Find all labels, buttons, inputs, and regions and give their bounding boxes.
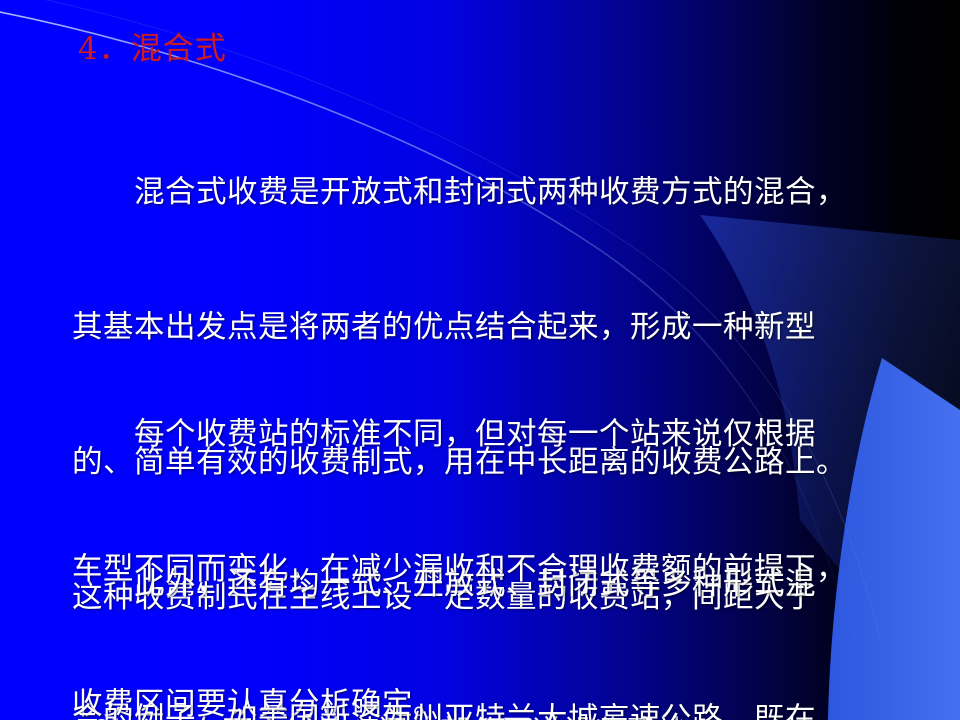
paragraph-2-line-1: 每个收费站的标准不同，但对每一个站来说仅根据 [72,412,922,457]
paragraph-3: 此外，还有均一式、开放式、封闭式等多种形式混 合的例子。如美国新泽西州亚特兰大城… [72,472,922,720]
paragraph-1-line-1: 混合式收费是开放式和封闭式两种收费方式的混合， [72,170,922,215]
paragraph-3-line-2: 合的例子。如美国新泽西州亚特兰大城高速公路，既在 [72,697,922,720]
slide-content: 4．混合式 混合式收费是开放式和封闭式两种收费方式的混合， 其基本出发点是将两者… [0,0,960,720]
presentation-slide: 4．混合式 混合式收费是开放式和封闭式两种收费方式的混合， 其基本出发点是将两者… [0,0,960,720]
slide-title: 4．混合式 [78,32,227,66]
paragraph-3-line-1: 此外，还有均一式、开放式、封闭式等多种形式混 [72,562,922,607]
